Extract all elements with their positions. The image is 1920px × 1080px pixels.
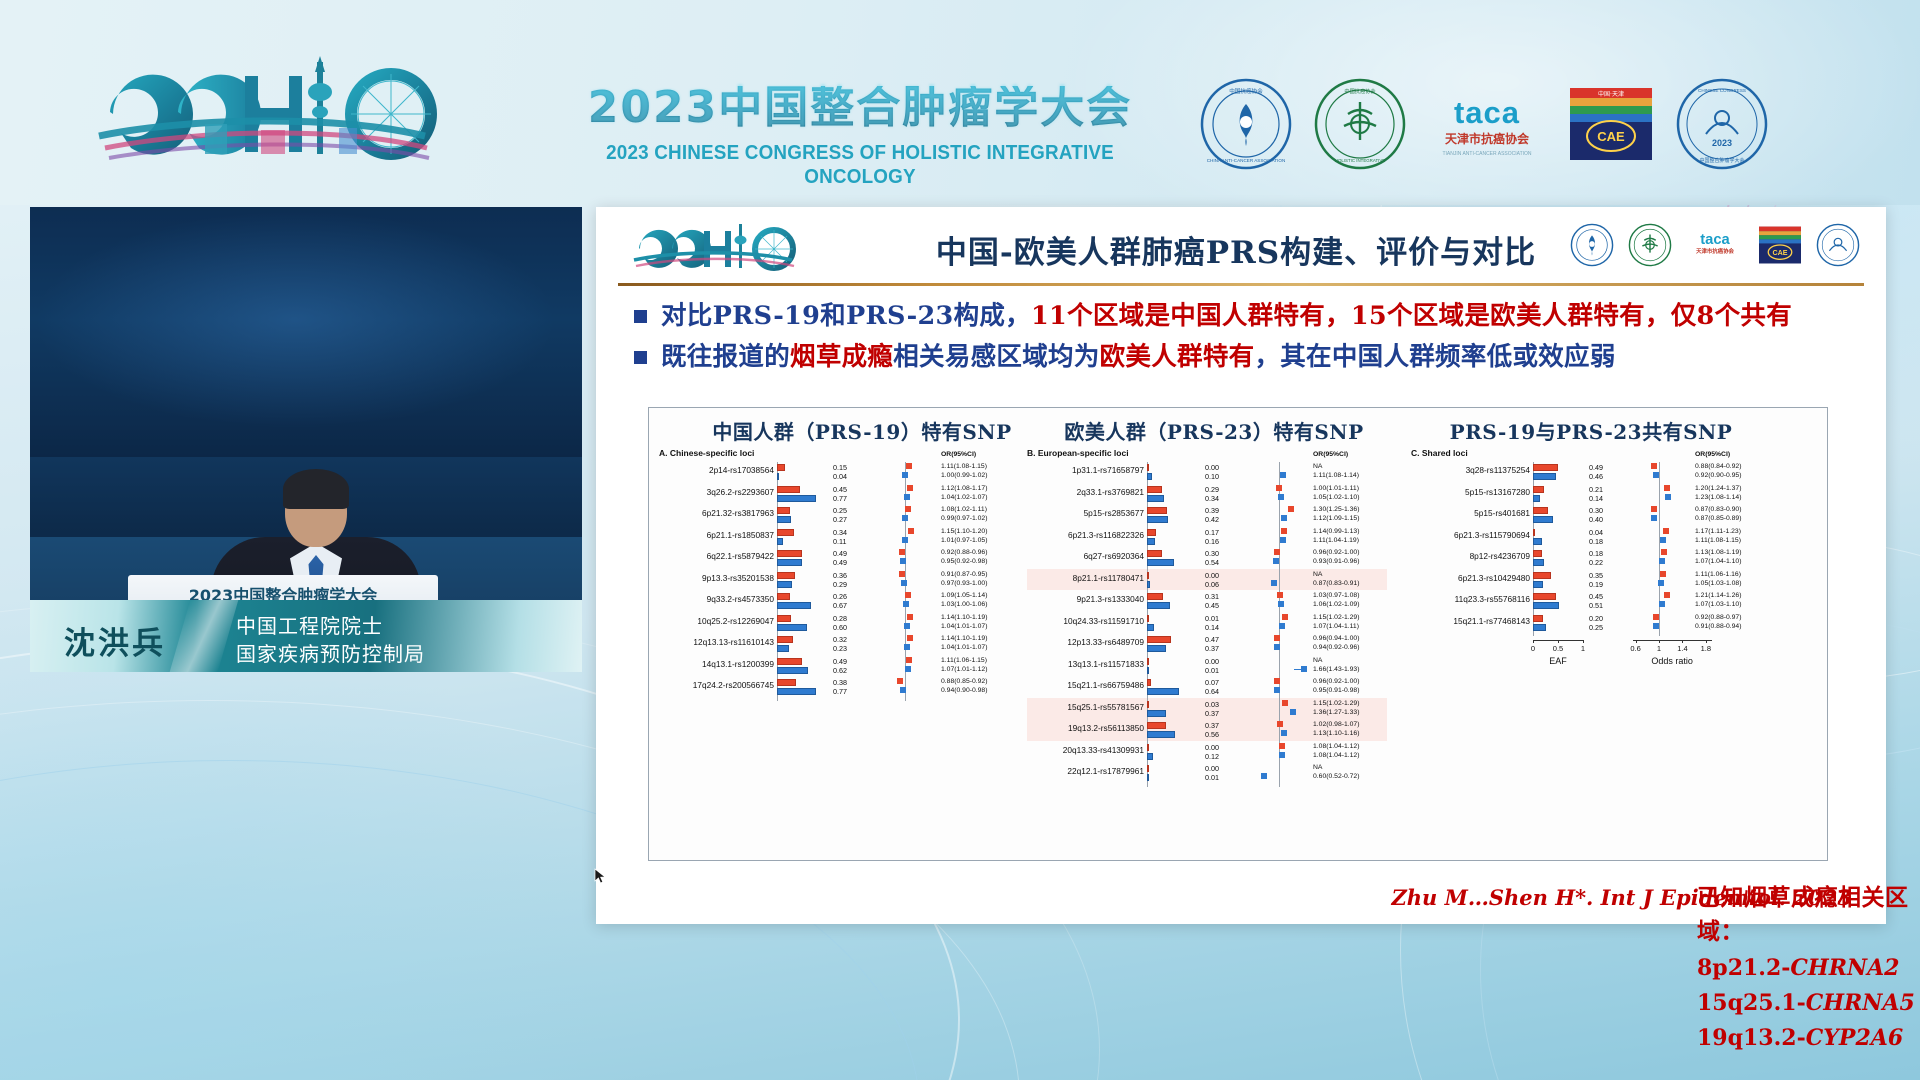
or-ci-text: 0.92(0.90-0.95) — [1695, 472, 1741, 479]
snp-label: 5p15-rs2853677 — [1084, 508, 1144, 518]
or-point-red — [1664, 592, 1670, 598]
cae-logo: CAE 中国·天津 — [1568, 86, 1654, 167]
eaf-bar-red — [1533, 593, 1556, 600]
svg-text:中国抗癌协会: 中国抗癌协会 — [1229, 87, 1263, 95]
known-region-item: 19q13.2-CYP2A6 — [1697, 1025, 1920, 1051]
eaf-value-red: 0.00 — [1205, 463, 1219, 472]
eaf-value-blue: 0.64 — [1205, 687, 1219, 696]
snp-label: 10q25.2-rs12269047 — [697, 616, 774, 626]
or-ci-text: 1.03(0.97-1.08) — [1313, 592, 1359, 599]
or-point-blue — [1658, 580, 1664, 586]
cae-logo: CAE — [1758, 225, 1802, 265]
or-ci-text: 1.05(1.03-1.08) — [1695, 580, 1741, 587]
eaf-value-blue: 0.34 — [1205, 494, 1219, 503]
or-point-blue — [1281, 730, 1287, 736]
svg-text:中国整合肿瘤学大会: 中国整合肿瘤学大会 — [1699, 157, 1744, 164]
or-ci-text: 0.87(0.85-0.89) — [1695, 515, 1741, 522]
svg-text:中国·天津: 中国·天津 — [1598, 90, 1624, 98]
eaf-bar-red — [777, 658, 802, 665]
or-ci-text: 1.00(0.99-1.02) — [941, 472, 987, 479]
forest-plot-row: 3q26.2-rs22936070.450.771.12(1.08-1.17)1… — [659, 484, 1009, 506]
or-point-red — [1274, 678, 1280, 684]
or-ci-text: 0.88(0.85-0.92) — [941, 678, 987, 685]
slide-bullet: 对比PRS-19和PRS-23构成，11个区域是中国人群特有，15个区域是欧美人… — [634, 299, 1854, 333]
eaf-value-blue: 0.77 — [833, 494, 847, 503]
eaf-value-red: 0.00 — [1205, 764, 1219, 773]
eaf-bar-blue — [1147, 624, 1154, 631]
or-point-blue — [1278, 601, 1284, 607]
or-ci-text: 0.92(0.88-0.96) — [941, 549, 987, 556]
or-ci-text: 0.96(0.92-1.00) — [1313, 678, 1359, 685]
snp-label: 6q22.1-rs5879422 — [707, 551, 774, 561]
eaf-value-red: 0.26 — [833, 592, 847, 601]
forest-plot-row: 5p15-rs28536770.390.421.30(1.25-1.36)1.1… — [1027, 505, 1387, 527]
snp-label: 15q21.1-rs66759486 — [1067, 680, 1144, 690]
eaf-value-red: 0.38 — [833, 678, 847, 687]
eaf-value-blue: 0.16 — [1205, 537, 1219, 546]
or-ci-text: 1.13(1.08-1.19) — [1695, 549, 1741, 556]
or-point-blue — [1273, 558, 1279, 564]
partner-logos-row: 中国抗癌协会 CHINA ANTI-CANCER ASSOCIATION 中国抗… — [1200, 78, 1768, 175]
eaf-bar-blue — [777, 516, 791, 523]
or-ci-text: 1.01(0.97-1.05) — [941, 537, 987, 544]
bullet-square-icon — [634, 310, 647, 323]
or-ci-text: 0.97(0.93-1.00) — [941, 580, 987, 587]
or-ci-text: 1.12(1.09-1.15) — [1313, 515, 1359, 522]
forest-plot-row: 17q24.2-rs2005667450.380.770.88(0.85-0.9… — [659, 677, 1009, 699]
snp-label: 3q26.2-rs2293607 — [707, 487, 774, 497]
svg-text:CAE: CAE — [1772, 249, 1787, 257]
eaf-value-blue: 0.37 — [1205, 709, 1219, 718]
or-point-red — [907, 635, 913, 641]
or-point-blue — [900, 558, 906, 564]
eaf-value-red: 0.32 — [833, 635, 847, 644]
forest-plot-row: 15q21.1-rs774681430.200.250.92(0.88-0.97… — [1411, 613, 1761, 635]
eaf-value-red: 0.28 — [833, 614, 847, 623]
svg-text:TIANJIN ANTI-CANCER ASSOCIATIO: TIANJIN ANTI-CANCER ASSOCIATION — [1442, 151, 1531, 157]
or-ci-text: 1.08(1.04-1.12) — [1313, 743, 1359, 750]
eaf-bar-blue — [777, 581, 792, 588]
eaf-value-blue: 0.11 — [833, 537, 846, 546]
axis-tick — [1682, 640, 1683, 643]
snp-label: 10q24.33-rs11591710 — [1063, 616, 1144, 626]
or-ci-text: 1.14(1.10-1.19) — [941, 635, 987, 642]
eaf-value-blue: 0.67 — [833, 601, 847, 610]
or-ci-text: 1.08(1.02-1.11) — [941, 506, 987, 513]
panel-chinese-specific-loci: A. Chinese-specific lociOR(95%CI)2p14-rs… — [659, 448, 1009, 703]
eaf-bar-red — [1147, 679, 1151, 686]
panel-rows: OR(95%CI)1p31.1-rs716587970.000.10NA1.11… — [1027, 462, 1387, 789]
known-region-item: 15q25.1-CHRNA5 — [1697, 990, 1920, 1016]
forest-plot-row: 2q33.1-rs37698210.290.341.00(1.01-1.11)1… — [1027, 484, 1387, 506]
or-ci-text: 1.11(1.06-1.16) — [1695, 571, 1741, 578]
or-ci-text: 1.02(0.98-1.07) — [1313, 721, 1359, 728]
known-regions-list: 8p21.2-CHRNA215q25.1-CHRNA519q13.2-CYP2A… — [1697, 955, 1920, 1051]
eaf-bar-blue — [777, 667, 808, 674]
snp-label: 6p21.3-rs115790694 — [1454, 530, 1530, 540]
or-point-blue — [901, 580, 907, 586]
eaf-bar-blue — [1147, 688, 1179, 695]
eaf-value-blue: 0.60 — [833, 623, 847, 632]
or-point-red — [905, 506, 911, 512]
or-ci-text: 1.21(1.14-1.26) — [1695, 592, 1741, 599]
snp-label: 2q33.1-rs3769821 — [1077, 487, 1144, 497]
eaf-bar-red — [1147, 550, 1162, 557]
eaf-bar-blue — [1147, 774, 1149, 781]
or-ci-text: 0.60(0.52-0.72) — [1313, 773, 1359, 780]
eaf-bar-red — [1147, 658, 1149, 665]
eaf-bar-red — [777, 486, 800, 493]
or-point-blue — [1279, 752, 1285, 758]
or-ci-text: 1.04(1.01-1.07) — [941, 623, 987, 630]
or-ci-text: 0.99(0.97-1.02) — [941, 515, 987, 522]
svg-text:天津市抗癌协会: 天津市抗癌协会 — [1696, 247, 1734, 255]
eaf-value-red: 0.37 — [1205, 721, 1219, 730]
or-point-blue — [1659, 601, 1665, 607]
snp-label: 6p21.3-rs10429480 — [1458, 573, 1530, 583]
svg-text:taca: taca — [1700, 232, 1730, 248]
or-ci-text: 0.95(0.92-0.98) — [941, 558, 987, 565]
eaf-bar-blue — [1533, 624, 1546, 631]
eaf-bar-blue — [1147, 581, 1150, 588]
slide-title: 中国-欧美人群肺癌PRS构建、评价与对比 — [896, 227, 1576, 272]
header-title-cn: 2023中国整合肿瘤学大会 — [540, 86, 1180, 130]
or-point-blue — [1665, 494, 1671, 500]
header-title-en: 2023 CHINESE CONGRESS OF HOLISTIC INTEGR… — [566, 141, 1155, 189]
eaf-value-red: 0.18 — [1589, 549, 1603, 558]
eaf-bar-red — [1533, 464, 1558, 471]
or-point-red — [907, 485, 913, 491]
eaf-bar-red — [777, 529, 794, 536]
eaf-value-blue: 0.49 — [833, 558, 847, 567]
or-ci-text: 0.96(0.94-1.00) — [1313, 635, 1359, 642]
or-ci-text: 0.91(0.88-0.94) — [1695, 623, 1741, 630]
eaf-bar-blue — [1147, 473, 1152, 480]
eaf-bar-red — [1147, 572, 1149, 579]
svg-text:CHINESE CONGRESS: CHINESE CONGRESS — [1698, 88, 1746, 93]
snp-label: 8p21.1-rs11780471 — [1073, 573, 1144, 583]
eaf-value-blue: 0.42 — [1205, 515, 1219, 524]
eaf-value-red: 0.15 — [833, 463, 847, 472]
eaf-bar-red — [1147, 529, 1156, 536]
or-ci-text: 1.09(1.05-1.14) — [941, 592, 987, 599]
eaf-value-red: 0.30 — [1205, 549, 1219, 558]
snp-label: 9p13.3-rs35201538 — [702, 573, 774, 583]
eaf-bar-red — [777, 464, 785, 471]
forest-plot-row: 9p21.3-rs13330400.310.451.03(0.97-1.08)1… — [1027, 591, 1387, 613]
or-point-blue — [1280, 537, 1286, 543]
eaf-value-red: 0.47 — [1205, 635, 1219, 644]
speaker-name: 沈洪兵 — [64, 618, 166, 663]
speaker-video-panel[interactable]: 2023中国整合肿瘤学大会 2023 Chinese Congress of H… — [30, 207, 582, 627]
snp-label: 2p14-rs17038564 — [709, 465, 774, 475]
snp-label: 12q13.13-rs11610143 — [693, 637, 774, 647]
or-point-red — [1660, 571, 1666, 577]
snp-label: 6q27-rs6920364 — [1084, 551, 1144, 561]
conference-header: 2023中国整合肿瘤学大会 2023 CHINESE CONGRESS OF H… — [0, 0, 1920, 205]
eaf-bar-blue — [777, 688, 816, 695]
cacaho-logo: 中国抗癌协会 HOLISTIC INTEGRATIVE — [1314, 78, 1406, 175]
eaf-bar-blue — [1533, 559, 1544, 566]
eaf-value-blue: 0.18 — [1589, 537, 1603, 546]
forest-plot-row: 3q28-rs113752540.490.460.88(0.84-0.92)0.… — [1411, 462, 1761, 484]
forest-plot-row: 22q12.1-rs178799610.000.01NA0.60(0.52-0.… — [1027, 763, 1387, 785]
eaf-value-blue: 0.56 — [1205, 730, 1219, 739]
eaf-value-blue: 0.25 — [1589, 623, 1603, 632]
or-point-blue — [1274, 644, 1280, 650]
eaf-value-blue: 0.12 — [1205, 752, 1219, 761]
or-ci-text: 1.06(1.02-1.09) — [1313, 601, 1359, 608]
forest-plot-row: 5p15-rs4016810.300.400.87(0.83-0.90)0.87… — [1411, 505, 1761, 527]
forest-plot-row: 11q23.3-rs557681160.450.511.21(1.14-1.26… — [1411, 591, 1761, 613]
eaf-value-blue: 0.14 — [1205, 623, 1219, 632]
snp-label: 12p13.33-rs6489709 — [1067, 637, 1144, 647]
or-point-red — [905, 592, 911, 598]
eaf-bar-red — [777, 593, 790, 600]
or-point-blue — [1290, 709, 1296, 715]
or-point-red — [1288, 506, 1294, 512]
or-column-header: OR(95%CI) — [941, 451, 976, 458]
or-ci-text: NA — [1313, 657, 1322, 664]
snp-label: 6p21.32-rs3817963 — [702, 508, 774, 518]
axis-tick-label: 0 — [1531, 644, 1535, 653]
eaf-value-red: 0.36 — [833, 571, 847, 580]
eaf-value-blue: 0.29 — [833, 580, 847, 589]
or-ci-text: 1.05(1.02-1.10) — [1313, 494, 1359, 501]
or-point-blue — [1279, 623, 1285, 629]
or-point-blue — [1271, 580, 1277, 586]
or-ci-text: 1.11(1.04-1.19) — [1313, 537, 1359, 544]
eaf-bar-blue — [1147, 753, 1153, 760]
eaf-value-blue: 0.01 — [1205, 666, 1219, 675]
or-point-red — [1663, 528, 1669, 534]
eaf-bar-red — [777, 679, 796, 686]
or-ci-text: 1.15(1.02-1.29) — [1313, 700, 1359, 707]
speaker-name-plate: 沈洪兵 中国工程院院士 国家疾病预防控制局 — [30, 600, 582, 672]
forest-plot-row: 5p15-rs131672800.210.141.20(1.24-1.37)1.… — [1411, 484, 1761, 506]
or-point-blue — [1660, 537, 1666, 543]
or-point-blue — [1281, 515, 1287, 521]
or-ci-text: NA — [1313, 764, 1322, 771]
or-point-blue — [903, 601, 909, 607]
eaf-bar-red — [1147, 722, 1166, 729]
eaf-value-red: 0.04 — [1589, 528, 1603, 537]
eaf-bar-red — [1147, 593, 1163, 600]
eaf-value-blue: 0.51 — [1589, 601, 1603, 610]
eaf-value-red: 0.45 — [1589, 592, 1603, 601]
eaf-bar-red — [1533, 550, 1542, 557]
axis-tick-label: 0.6 — [1630, 644, 1640, 653]
china-anti-cancer-association-logo — [1570, 223, 1614, 267]
eaf-bar-red — [777, 550, 802, 557]
axis-tick-label: 1.8 — [1701, 644, 1711, 653]
or-point-red — [906, 657, 912, 663]
svg-text:2023: 2023 — [1712, 138, 1732, 148]
axis-line — [1633, 640, 1712, 641]
eaf-bar-blue — [1147, 559, 1174, 566]
eaf-bar-red — [1147, 636, 1171, 643]
eaf-bar-blue — [1147, 538, 1155, 545]
forest-plot-row: 12p13.33-rs64897090.470.370.96(0.94-1.00… — [1027, 634, 1387, 656]
or-ci-text: 1.07(1.03-1.10) — [1695, 601, 1741, 608]
taca-logo: taca 天津市抗癌协会 — [1686, 228, 1744, 262]
eaf-value-blue: 0.45 — [1205, 601, 1219, 610]
or-ci-text: 1.23(1.08-1.14) — [1695, 494, 1741, 501]
or-ci-text: 1.07(1.04-1.10) — [1695, 558, 1741, 565]
or-point-blue — [904, 494, 910, 500]
slide-cchio-logo-icon — [632, 221, 822, 273]
snp-label: 15q21.1-rs77468143 — [1453, 616, 1530, 626]
eaf-value-blue: 0.23 — [833, 644, 847, 653]
eaf-value-red: 0.49 — [833, 657, 847, 666]
eaf-value-red: 0.03 — [1205, 700, 1219, 709]
svg-text:CHINA ANTI-CANCER ASSOCIATION: CHINA ANTI-CANCER ASSOCIATION — [1207, 158, 1286, 163]
eaf-bar-blue — [1147, 602, 1170, 609]
eaf-value-blue: 0.40 — [1589, 515, 1603, 524]
eaf-value-red: 0.49 — [1589, 463, 1603, 472]
svg-text:天津市抗癌协会: 天津市抗癌协会 — [1445, 131, 1530, 146]
eaf-bar-red — [1533, 572, 1551, 579]
or-point-red — [1653, 614, 1659, 620]
svg-text:taca: taca — [1454, 95, 1520, 130]
eaf-value-red: 0.00 — [1205, 571, 1219, 580]
or-ci-text: 1.11(1.08-1.15) — [1695, 537, 1741, 544]
panel-rows: OR(95%CI)3q28-rs113752540.490.460.88(0.8… — [1411, 462, 1761, 638]
or-ci-text: 1.07(1.04-1.11) — [1313, 623, 1359, 630]
forest-plot-row: 6p21.1-rs18508370.340.111.15(1.10-1.20)1… — [659, 527, 1009, 549]
or-ci-text: 1.04(1.02-1.07) — [941, 494, 987, 501]
or-point-blue — [1659, 558, 1665, 564]
eaf-bar-red — [1147, 701, 1149, 708]
svg-text:中国抗癌协会: 中国抗癌协会 — [1344, 87, 1375, 95]
eaf-value-blue: 0.27 — [833, 515, 847, 524]
eaf-bar-blue — [1533, 516, 1553, 523]
eaf-bar-red — [777, 507, 790, 514]
stage-backdrop-glow — [30, 207, 582, 457]
forest-plot-figure: 中国人群（PRS-19）特有SNP 欧美人群（PRS-23）特有SNP PRS-… — [648, 407, 1828, 861]
speaker-title-line2: 国家疾病预防控制局 — [236, 638, 425, 667]
or-ci-text: 1.30(1.25-1.36) — [1313, 506, 1359, 513]
eaf-value-blue: 0.54 — [1205, 558, 1219, 567]
slide-bullets: 对比PRS-19和PRS-23构成，11个区域是中国人群特有，15个区域是欧美人… — [634, 299, 1854, 381]
forest-plot-row: 10q24.33-rs115917100.010.141.15(1.02-1.2… — [1027, 613, 1387, 635]
axis-tick — [1636, 640, 1637, 643]
eaf-value-red: 0.01 — [1205, 614, 1219, 623]
eaf-value-red: 0.39 — [1205, 506, 1219, 515]
eaf-bar-blue — [1147, 645, 1166, 652]
forest-plot-row: 13q13.1-rs115718330.000.01NA1.66(1.43-1.… — [1027, 656, 1387, 678]
forest-plot-row: 12q13.13-rs116101430.320.231.14(1.10-1.1… — [659, 634, 1009, 656]
mouse-cursor-icon — [594, 868, 608, 884]
or-ci-text: 1.11(1.08-1.15) — [941, 463, 987, 470]
eaf-value-red: 0.30 — [1589, 506, 1603, 515]
or-confidence-interval — [1294, 669, 1304, 670]
slide-title-band: 中国-欧美人群肺癌PRS构建、评价与对比 taca 天津市抗癌协会 — [596, 207, 1886, 281]
or-point-blue — [902, 472, 908, 478]
forest-plot-row: 1p31.1-rs716587970.000.10NA1.11(1.08-1.1… — [1027, 462, 1387, 484]
or-point-red — [899, 549, 905, 555]
eaf-value-blue: 0.22 — [1589, 558, 1603, 567]
presentation-slide[interactable]: 中国-欧美人群肺癌PRS构建、评价与对比 taca 天津市抗癌协会 — [596, 207, 1886, 924]
or-point-red — [1274, 549, 1280, 555]
snp-label: 11q23.3-rs55768116 — [1455, 594, 1530, 604]
or-ci-text: 0.95(0.91-0.98) — [1313, 687, 1359, 694]
forest-plot-row: 10q25.2-rs122690470.280.601.14(1.10-1.19… — [659, 613, 1009, 635]
or-ci-text: 1.13(1.10-1.16) — [1313, 730, 1359, 737]
forest-plot-row: 14q13.1-rs12003990.490.621.11(1.06-1.15)… — [659, 656, 1009, 678]
eaf-bar-blue — [777, 624, 807, 631]
or-column-header: OR(95%CI) — [1695, 451, 1730, 458]
eaf-value-red: 0.34 — [833, 528, 847, 537]
or-column-header: OR(95%CI) — [1313, 451, 1348, 458]
eaf-bar-blue — [777, 602, 811, 609]
or-point-red — [1661, 549, 1667, 555]
or-ci-text: 0.94(0.90-0.98) — [941, 687, 987, 694]
forest-plot-row: 6p21.3-rs1168223260.170.161.14(0.99-1.13… — [1027, 527, 1387, 549]
snp-label: 6p21.3-rs116822326 — [1068, 530, 1144, 540]
forest-plot-row: 8p21.1-rs117804710.000.06NA0.87(0.83-0.9… — [1027, 570, 1387, 592]
eaf-value-red: 0.25 — [833, 506, 847, 515]
or-ci-text: 0.92(0.88-0.97) — [1695, 614, 1741, 621]
snp-label: 5p15-rs401681 — [1474, 508, 1530, 518]
axis-tick — [1706, 640, 1707, 643]
eaf-bar-blue — [777, 495, 816, 502]
eaf-value-red: 0.17 — [1205, 528, 1219, 537]
panel-header-shared: PRS-19与PRS-23共有SNP — [1421, 416, 1761, 445]
eaf-bar-blue — [777, 473, 779, 480]
or-ci-text: 0.87(0.83-0.90) — [1695, 506, 1741, 513]
slide-bullet: 既往报道的烟草成瘾相关易感区域均为欧美人群特有，其在中国人群频率低或效应弱 — [634, 340, 1854, 374]
snp-label: 22q12.1-rs17879961 — [1067, 766, 1144, 776]
cchio-2023-seal-logo — [1816, 223, 1860, 267]
or-point-blue — [902, 537, 908, 543]
slide-citation: Zhu M…Shen H*. Int J Epidemiol. 2023 — [1391, 885, 1852, 910]
eaf-value-red: 0.35 — [1589, 571, 1603, 580]
or-point-blue — [1280, 472, 1286, 478]
eaf-value-blue: 0.06 — [1205, 580, 1219, 589]
forest-plot-row: 19q13.2-rs561138500.370.561.02(0.98-1.07… — [1027, 720, 1387, 742]
bullet-text: 既往报道的烟草成瘾相关易感区域均为欧美人群特有，其在中国人群频率低或效应弱 — [661, 340, 1616, 374]
snp-label: 3q28-rs11375254 — [1466, 465, 1530, 475]
or-point-blue — [904, 623, 910, 629]
cchio-2023-seal-logo: CHINESE CONGRESS 2023 中国整合肿瘤学大会 — [1676, 78, 1768, 175]
eaf-bar-red — [1147, 464, 1149, 471]
axis-tick-label: 1 — [1581, 644, 1585, 653]
eaf-bar-blue — [1147, 710, 1166, 717]
eaf-bar-blue — [1533, 538, 1542, 545]
snp-label: 1p31.1-rs71658797 — [1072, 465, 1144, 475]
snp-label: 6p21.1-rs1850837 — [707, 530, 774, 540]
or-ci-text: NA — [1313, 571, 1322, 578]
forest-plot-row: 2p14-rs170385640.150.041.11(1.08-1.15)1.… — [659, 462, 1009, 484]
or-point-red — [1282, 700, 1288, 706]
eaf-bar-blue — [1147, 495, 1164, 502]
eaf-bar-blue — [1147, 667, 1149, 674]
eaf-value-red: 0.21 — [1589, 485, 1603, 494]
panel-european-specific-loci: B. European-specific lociOR(95%CI)1p31.1… — [1027, 448, 1387, 789]
or-ci-text: 1.15(1.10-1.20) — [941, 528, 987, 535]
or-ci-text: 0.91(0.87-0.95) — [941, 571, 987, 578]
known-region-item: 8p21.2-CHRNA2 — [1697, 955, 1920, 981]
eaf-value-red: 0.00 — [1205, 657, 1219, 666]
or-ci-text: 1.66(1.43-1.93) — [1313, 666, 1359, 673]
or-ci-text: 1.15(1.02-1.29) — [1313, 614, 1359, 621]
eaf-bar-red — [1533, 507, 1548, 514]
or-point-red — [1281, 528, 1287, 534]
or-point-red — [899, 571, 905, 577]
eaf-value-blue: 0.14 — [1589, 494, 1603, 503]
eaf-bar-red — [1147, 765, 1149, 772]
